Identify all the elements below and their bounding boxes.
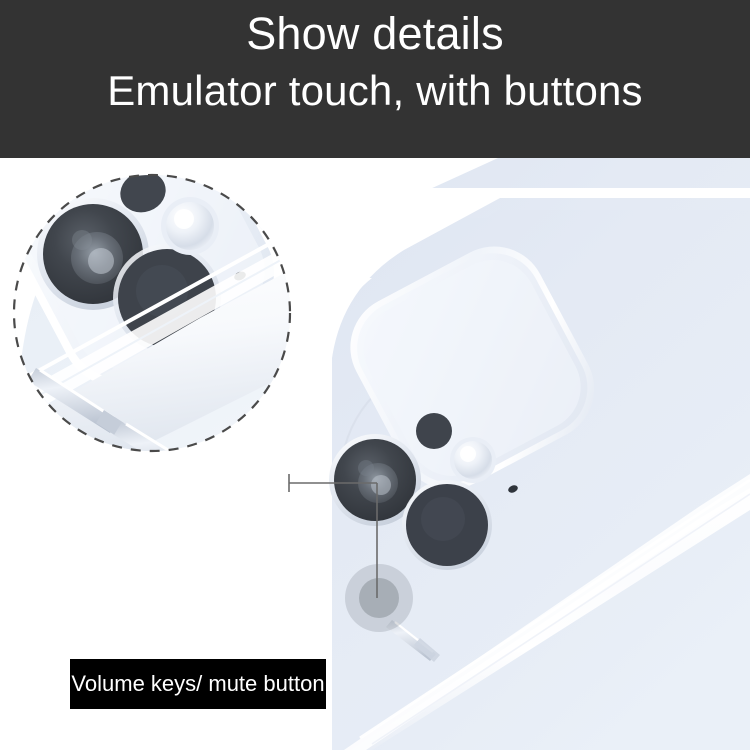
emulator-touch-point — [345, 564, 413, 632]
camera-flash — [450, 437, 496, 483]
camera-lens-ultrawide — [402, 480, 492, 570]
magnified-detail-circle — [0, 158, 346, 498]
product-photo-stage: Volume keys/ mute button — [0, 158, 750, 750]
caption-label: Volume keys/ mute button — [70, 659, 326, 709]
page-title: Show details — [246, 8, 504, 60]
header-banner: Show details Emulator touch, with button… — [0, 0, 750, 158]
sensor-dot — [416, 413, 452, 449]
page-subtitle: Emulator touch, with buttons — [107, 66, 643, 116]
screenshot-root: Show details Emulator touch, with button… — [0, 0, 750, 750]
caption-label-text: Volume keys/ mute button — [71, 671, 324, 697]
